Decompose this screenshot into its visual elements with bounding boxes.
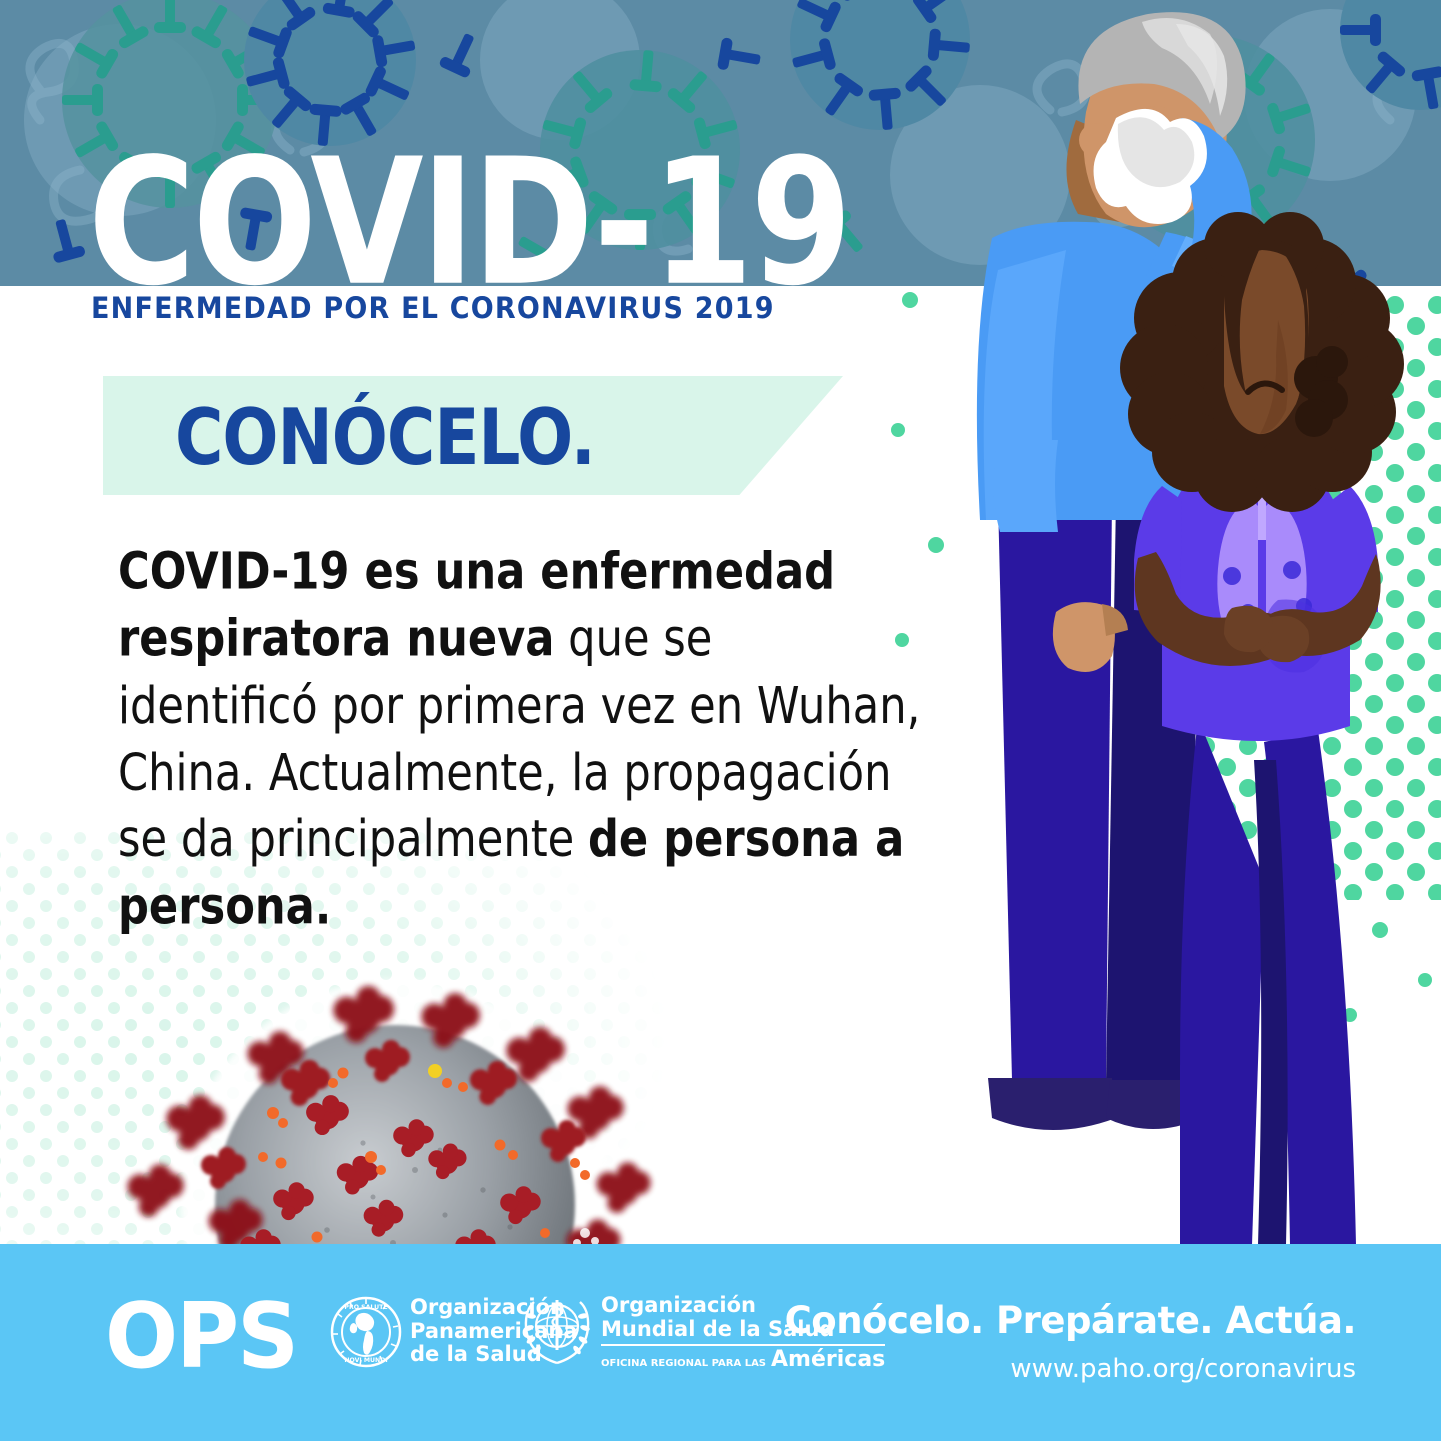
yellow-particle: [428, 1064, 442, 1078]
footer-slogan: Conócelo. Prepárate. Actúa.: [785, 1299, 1356, 1342]
page-title: COVID-19: [88, 140, 849, 306]
page-title-wrap: COVID-19: [88, 140, 857, 281]
who-emblem-icon: [520, 1294, 594, 1368]
body-segment-bold-1: COVID-19 es una enfermedad respiratora n…: [118, 541, 835, 667]
paho-seal-icon: PRO SALUTE NOVI MUNDI: [330, 1296, 402, 1368]
footer-tagline-block: Conócelo. Prepárate. Actúa. www.paho.org…: [785, 1299, 1356, 1384]
sars-cov-2-micrograph: [95, 965, 695, 1255]
banner-label: CONÓCELO.: [175, 392, 595, 483]
ops-logo-text: OPS: [105, 1284, 297, 1389]
body-copy: COVID-19 es una enfermedad respiratora n…: [118, 538, 924, 940]
covid-infographic-poster: COVID-19 ENFERMEDAD POR EL CORONAVIRUS 2…: [0, 0, 1441, 1441]
conocelo-banner: CONÓCELO.: [103, 376, 843, 495]
footer-url[interactable]: www.paho.org/coronavirus: [785, 1354, 1356, 1384]
who-region-prefix: OFICINA REGIONAL PARA LAS: [601, 1358, 766, 1369]
paho-seal-top-text: PRO SALUTE: [344, 1304, 387, 1311]
page-subtitle: ENFERMEDAD POR EL CORONAVIRUS 2019: [91, 292, 775, 325]
footer-bar: OPS P: [0, 1244, 1441, 1441]
paho-seal-bottom-text: NOVI MUNDI: [344, 1357, 387, 1364]
people-illustration: [880, 0, 1441, 1245]
